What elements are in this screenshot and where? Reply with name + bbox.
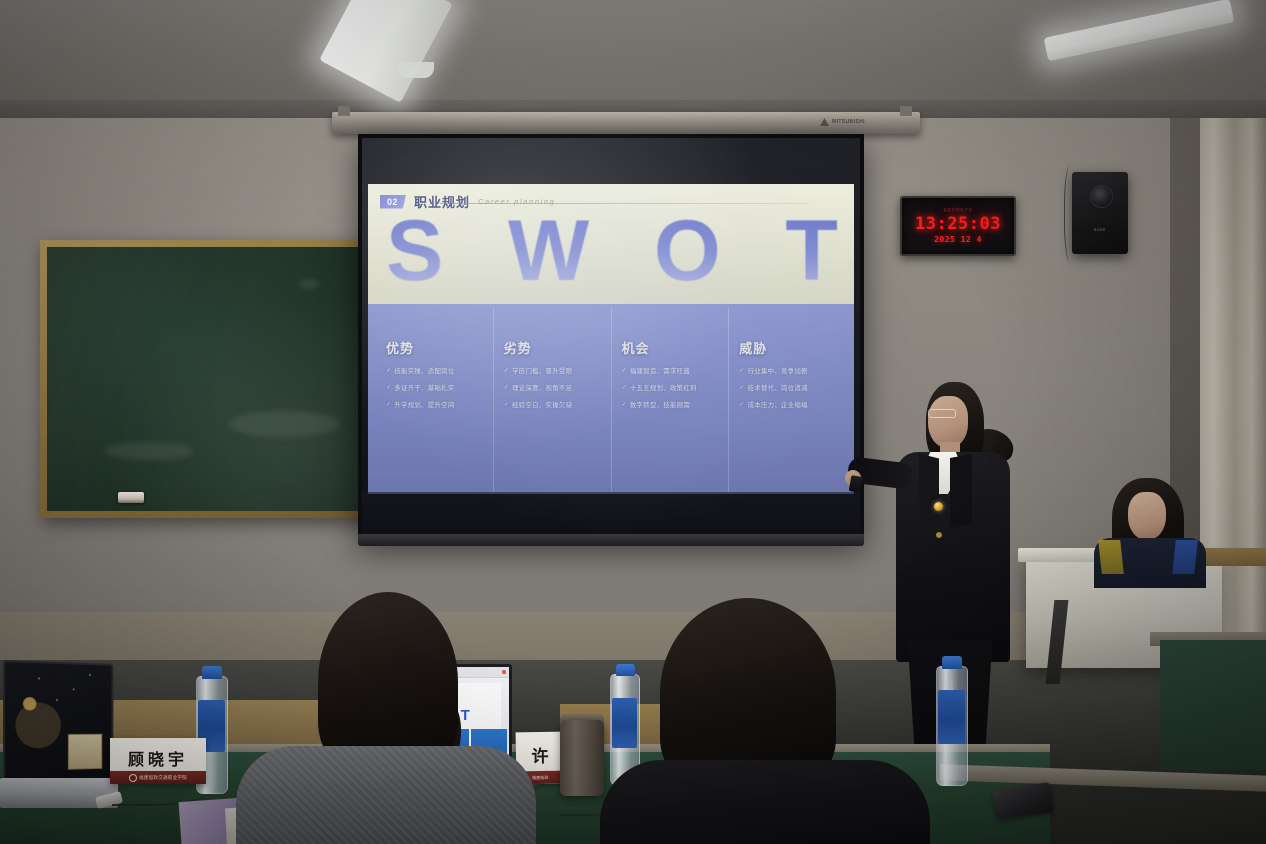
column-title: 机会 <box>622 338 724 357</box>
presenter-face <box>928 396 968 448</box>
screen-lower-shadow <box>362 492 860 536</box>
audience-left-hair <box>318 592 458 772</box>
slide-header-rule <box>440 203 808 204</box>
column-title: 劣势 <box>504 338 606 357</box>
column-bullet: ✓学历门槛、晋升受限 <box>504 366 606 375</box>
column-bullet: ✓经验空白、实操欠缺 <box>504 400 606 409</box>
speaker-brand-label: BOSE <box>1094 228 1106 232</box>
name-card-org: 福建船政 <box>532 774 549 780</box>
check-icon: ✓ <box>622 401 627 408</box>
screen-bottom-bar <box>358 534 864 546</box>
speaker-cone-icon <box>1090 185 1113 208</box>
projection-screen: 02 职业规划 Career planning S W O T 优势 ✓技能实操… <box>358 134 864 540</box>
ceiling-light-left-cap <box>398 62 434 78</box>
swot-letter-s: S <box>386 212 443 291</box>
check-icon: ✓ <box>386 401 391 408</box>
mirror-letter-t: T <box>461 707 470 724</box>
column-bullet: ✓理论深度、视角不足 <box>504 383 606 392</box>
presenter-badge-icon <box>934 502 943 511</box>
column-title: 威胁 <box>739 338 841 357</box>
laptop-left-wallpaper-card <box>68 734 102 770</box>
thermos-cup[interactable] <box>560 720 604 796</box>
check-icon: ✓ <box>386 384 391 391</box>
name-card-left: 顾晓宇 福建船政交通职业学院 <box>110 738 206 784</box>
check-icon: ✓ <box>504 367 509 374</box>
wall-speaker: BOSE <box>1072 172 1128 254</box>
seated-student-jacket-trim-right <box>1172 540 1198 574</box>
laptop-left-lid[interactable] <box>3 660 113 786</box>
swot-column-opportunities: 机会 ✓福建智造、需求旺盛 ✓十五五规划、政策红利 ✓数字转型、技能刚需 <box>611 308 729 492</box>
check-icon: ✓ <box>622 384 627 391</box>
swot-column-threats: 威胁 ✓行业集中、竞争加剧 ✓技术替代、岗位消减 ✓成本压力、企业缩编 <box>728 308 846 492</box>
check-icon: ✓ <box>504 401 509 408</box>
name-card-footer: 福建船政交通职业学院 <box>110 771 206 784</box>
check-icon: ✓ <box>739 367 744 374</box>
swot-letter-o: O <box>654 212 721 291</box>
screen-bracket-left <box>338 106 350 116</box>
presenter-lapel-right <box>950 454 972 528</box>
check-icon: ✓ <box>739 401 744 408</box>
column-bullet: ✓技术替代、岗位消减 <box>739 383 841 392</box>
check-icon: ✓ <box>504 384 509 391</box>
clock-time: 13:25:03 <box>915 214 1001 234</box>
school-seal-icon <box>129 774 137 782</box>
screen-bracket-right <box>900 106 912 116</box>
column-title: 优势 <box>386 338 488 357</box>
clock-brand-label: 智慧校园电子钟 <box>943 208 972 213</box>
presenter-glasses-icon <box>928 409 956 418</box>
swot-column-weaknesses: 劣势 ✓学历门槛、晋升受限 ✓理论深度、视角不足 ✓经验空白、实操欠缺 <box>493 308 611 492</box>
bottle-cap <box>616 664 635 676</box>
mitsubishi-icon <box>820 118 829 126</box>
chalk-eraser[interactable] <box>118 492 144 503</box>
clock-date: 2025 12 4 <box>934 235 982 244</box>
right-desk <box>1160 640 1266 770</box>
classroom-scene: MITSUBISHI 02 职业规划 Career planning S W O… <box>0 0 1266 844</box>
column-bullet: ✓技能实操、适配岗位 <box>386 366 488 375</box>
column-bullet: ✓多证齐干、基础扎实 <box>386 383 488 392</box>
check-icon: ✓ <box>739 384 744 391</box>
column-bullet: ✓成本压力、企业缩编 <box>739 400 841 409</box>
swot-letter-t: T <box>785 212 838 291</box>
swot-columns: 优势 ✓技能实操、适配岗位 ✓多证齐干、基础扎实 ✓升学规划、提升空间 劣势 ✓… <box>376 308 846 492</box>
bottle-label <box>612 698 637 748</box>
bottle-cap <box>942 656 962 669</box>
audience-right-top <box>600 760 930 844</box>
presenter-lapel-left <box>919 454 939 525</box>
bottle-cap <box>202 666 222 679</box>
column-bullet: ✓数字转型、技能刚需 <box>622 400 724 409</box>
check-icon: ✓ <box>386 367 391 374</box>
swot-column-strengths: 优势 ✓技能实操、适配岗位 ✓多证齐干、基础扎实 ✓升学规划、提升空间 <box>376 308 493 492</box>
name-card-name: 顾晓宇 <box>110 738 206 770</box>
projector-brand-logo: MITSUBISHI <box>820 118 865 126</box>
slide-content: 02 职业规划 Career planning S W O T 优势 ✓技能实操… <box>368 184 854 494</box>
swot-letter-w: W <box>508 212 589 291</box>
projector-brand-label: MITSUBISHI <box>832 119 865 125</box>
check-icon: ✓ <box>622 367 627 374</box>
audience-left-coat <box>236 746 536 844</box>
led-wall-clock: 智慧校园电子钟 13:25:03 2025 12 4 <box>900 196 1016 256</box>
column-bullet: ✓行业集中、竞争加剧 <box>739 366 841 375</box>
name-card-name: 许 <box>516 732 565 768</box>
projection-screen-surface: 02 职业规划 Career planning S W O T 优势 ✓技能实操… <box>362 138 860 536</box>
column-bullet: ✓福建智造、需求旺盛 <box>622 366 724 375</box>
presenter-jacket-button <box>936 532 942 538</box>
column-bullet: ✓十五五规划、政策红利 <box>622 383 724 392</box>
podium-wood-trim <box>1200 548 1266 566</box>
seated-student-face <box>1128 492 1166 540</box>
laptop-center-record-icon[interactable] <box>502 670 506 674</box>
chalkboard-surface <box>47 247 361 511</box>
chalkboard-frame <box>40 240 368 518</box>
column-bullet: ✓升学规划、提升空间 <box>386 400 488 409</box>
bottle-label <box>938 690 965 744</box>
seated-student-jacket-trim-left <box>1098 540 1124 574</box>
slide-header: 02 职业规划 Career planning <box>380 192 820 211</box>
name-card-org: 福建船政交通职业学院 <box>139 775 187 781</box>
